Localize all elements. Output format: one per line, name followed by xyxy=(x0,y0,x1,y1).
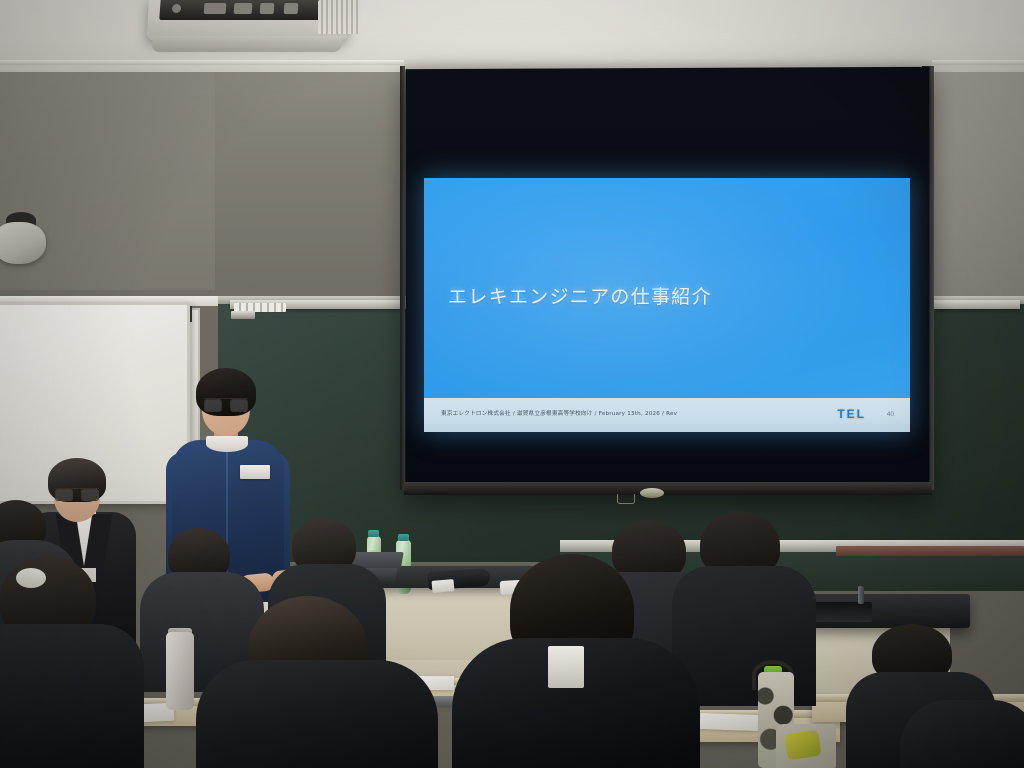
slide-title: エレキエンジニアの仕事紹介 xyxy=(448,282,712,309)
screen-pull-hook xyxy=(617,494,635,504)
bottle-cap-right xyxy=(398,534,409,541)
thermos-tumbler xyxy=(166,632,194,710)
shirt-collar xyxy=(548,646,584,688)
student-jacket xyxy=(900,700,1024,768)
bottle-cap-left xyxy=(368,530,379,537)
glasses-icon xyxy=(55,488,99,499)
glasses-icon xyxy=(204,398,248,410)
student-jacket xyxy=(196,660,438,768)
wall-speaker-icon xyxy=(0,222,46,264)
tel-logo: TEL xyxy=(837,407,866,421)
presenter-collar xyxy=(206,436,248,452)
screen-bottom-bar xyxy=(404,482,932,495)
projector-vent xyxy=(318,0,360,34)
faucet-icon xyxy=(858,586,864,604)
student-jacket xyxy=(0,624,144,768)
screen-edge-left xyxy=(400,66,405,490)
bag-accessory xyxy=(784,730,821,760)
slide-footer: 東京エレクトロン株式会社 / 滋賀県立彦根東高等学校向け / February … xyxy=(424,398,910,432)
hair-scrunchie xyxy=(16,568,46,588)
slide-page-number: 40 xyxy=(887,411,894,418)
slide-footer-text: 東京エレクトロン株式会社 / 滋賀県立彦根東高等学校向け / February … xyxy=(441,410,677,418)
handout-paper xyxy=(700,713,759,731)
projector-underside xyxy=(151,36,343,52)
screen-pull-handle[interactable] xyxy=(640,488,664,498)
classroom-photo: エレキエンジニアの仕事紹介 東京エレクトロン株式会社 / 滋賀県立彦根東高等学校… xyxy=(0,0,1024,768)
projected-slide: エレキエンジニアの仕事紹介 東京エレクトロン株式会社 / 滋賀県立彦根東高等学校… xyxy=(424,178,910,432)
chalk-eraser xyxy=(231,311,255,319)
pointer-accessory xyxy=(432,579,455,593)
chalk-tray-right xyxy=(836,546,1024,556)
presenter-id-badge xyxy=(240,465,270,479)
